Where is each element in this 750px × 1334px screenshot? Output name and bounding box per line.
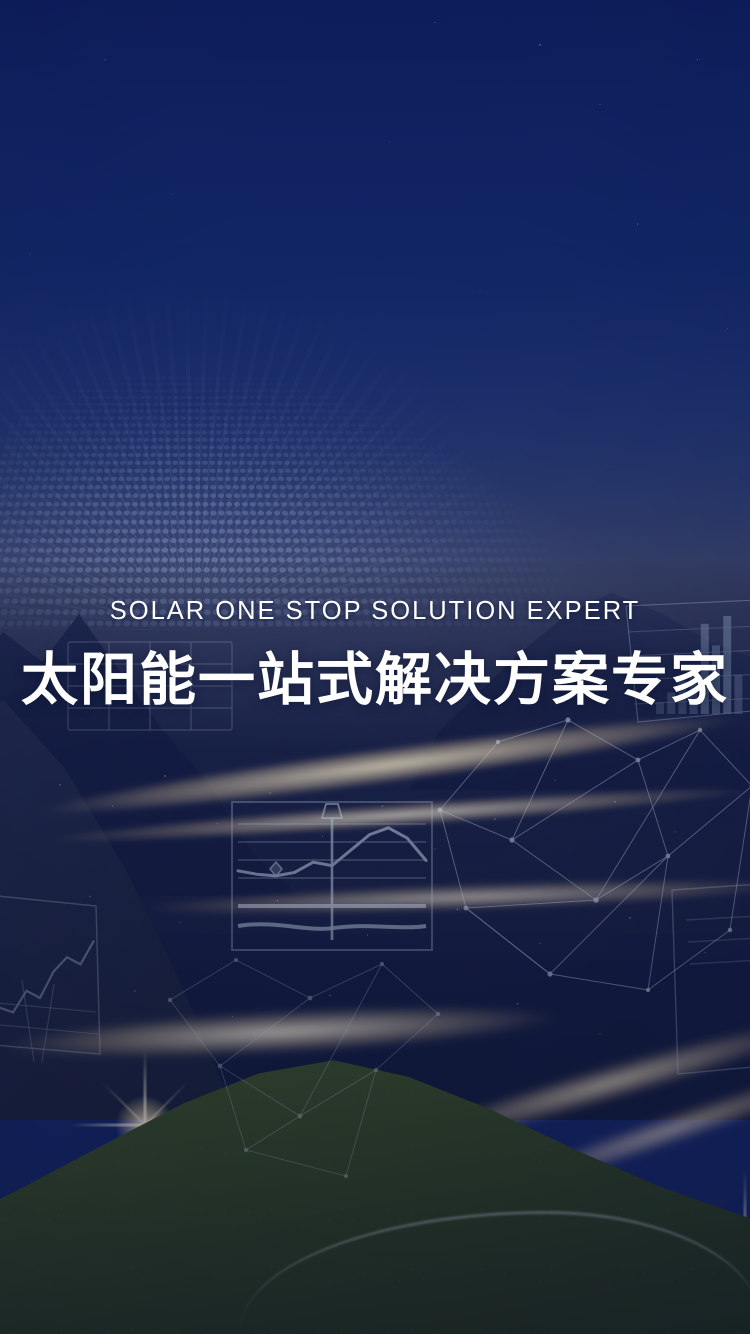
- secondary-line-chart-overlay: [0, 884, 126, 1074]
- network-mesh-overlay-secondary: [150, 940, 450, 1200]
- hero-copy-block: SOLAR ONE STOP SOLUTION EXPERT 太阳能一站式解决方…: [0, 596, 750, 712]
- hero-banner: SOLAR ONE STOP SOLUTION EXPERT 太阳能一站式解决方…: [0, 0, 750, 1334]
- network-mesh-overlay: [400, 690, 750, 1020]
- hero-headline: 太阳能一站式解决方案专家: [0, 649, 750, 713]
- hero-eyebrow: SOLAR ONE STOP SOLUTION EXPERT: [0, 596, 750, 627]
- radial-data-beam: [0, 70, 750, 630]
